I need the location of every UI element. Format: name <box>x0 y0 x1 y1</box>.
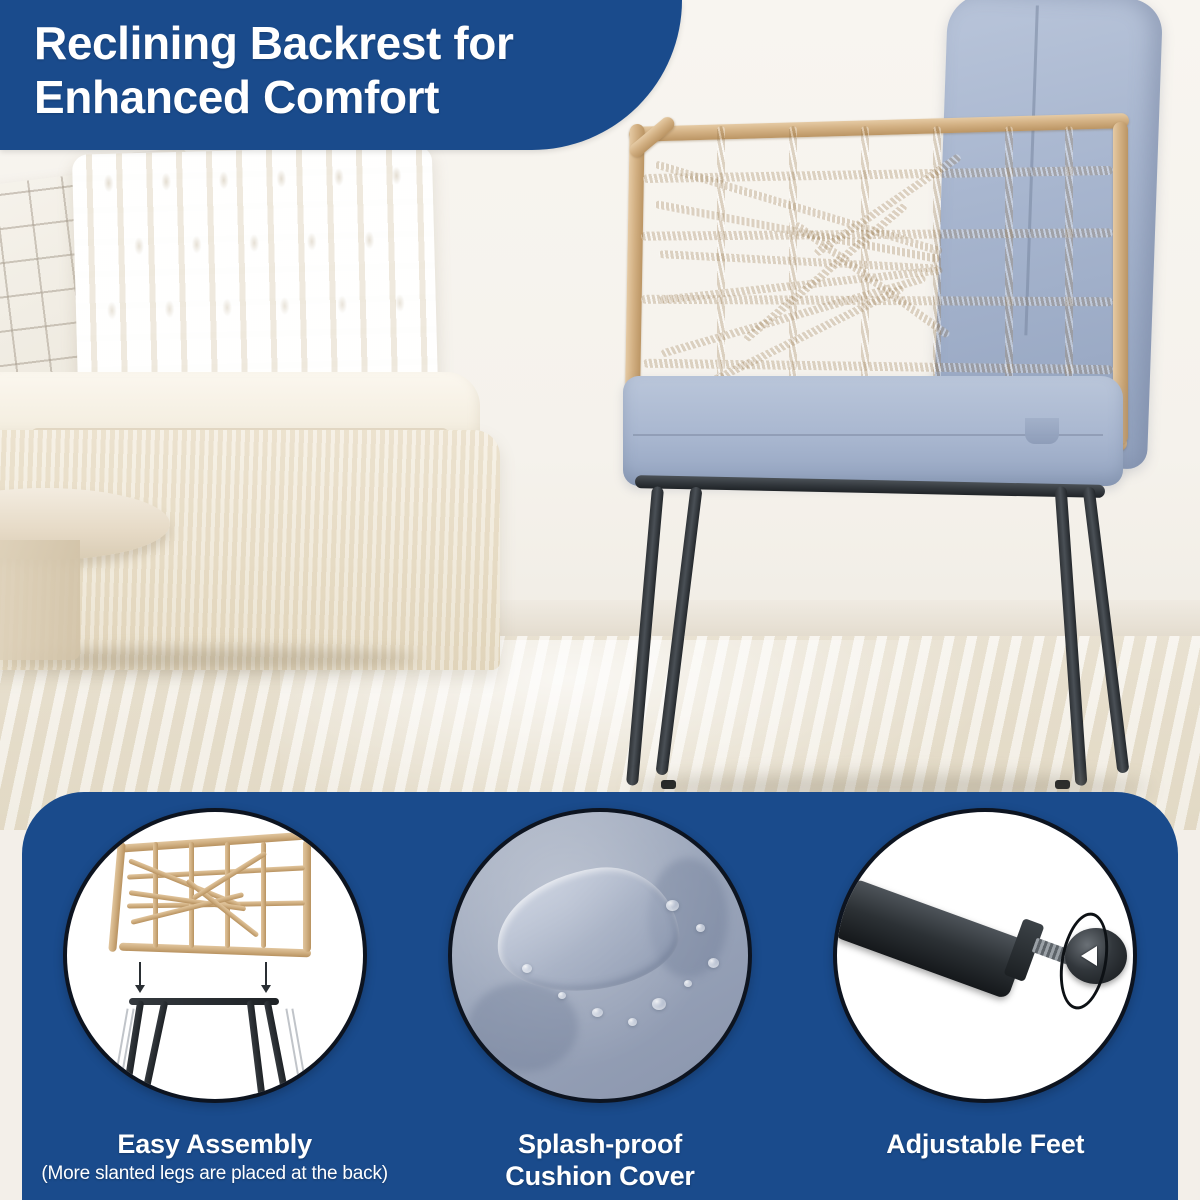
caption-subtitle: (More slanted legs are placed at the bac… <box>41 1163 387 1185</box>
wicker-chair <box>595 88 1195 788</box>
frame-leg-2 <box>140 1000 168 1099</box>
knit-loop-texture <box>72 145 438 399</box>
chair-leg-front-right <box>1055 486 1088 786</box>
droplet-1 <box>666 900 679 911</box>
adjustable-foot-illustration <box>833 808 1137 1103</box>
caption-title-line-1: Splash-proof <box>505 1129 694 1161</box>
feature-panel: Easy Assembly (More slanted legs are pla… <box>22 792 1178 1200</box>
droplet-6 <box>628 1018 637 1026</box>
frame-leg-4 <box>263 1000 289 1098</box>
frame-leg-3 <box>246 1000 266 1103</box>
assembly-arrow-left <box>139 962 141 986</box>
droplet-8 <box>558 992 566 999</box>
assembly-diagram <box>67 812 363 1099</box>
feature-list: Easy Assembly (More slanted legs are pla… <box>22 792 1178 1200</box>
droplet-3 <box>708 958 719 968</box>
leg-tube <box>833 878 1028 1000</box>
assembly-illustration <box>63 808 367 1103</box>
caption-easy-assembly: Easy Assembly (More slanted legs are pla… <box>41 1129 387 1185</box>
rattan-seat-body <box>113 834 313 956</box>
feature-easy-assembly: Easy Assembly (More slanted legs are pla… <box>22 792 407 1200</box>
headline-line-1: Reclining Backrest for <box>34 16 654 70</box>
product-marketing-image: Reclining Backrest for Enhanced Comfort <box>0 0 1200 1200</box>
chair-leg-back-right <box>1082 486 1129 773</box>
droplet-5 <box>652 998 666 1010</box>
headline-line-2: Enhanced Comfort <box>34 70 654 124</box>
droplet-9 <box>522 964 532 973</box>
droplet-2 <box>696 924 705 932</box>
splash-illustration <box>448 808 752 1103</box>
headline-banner: Reclining Backrest for Enhanced Comfort <box>0 0 682 150</box>
caption-adjustable-feet: Adjustable Feet <box>886 1129 1084 1161</box>
chair-leg-back-left <box>655 486 702 775</box>
caption-title: Adjustable Feet <box>886 1129 1084 1161</box>
page-title: Reclining Backrest for Enhanced Comfort <box>34 16 654 125</box>
chair-leg-front-left <box>626 486 664 786</box>
side-table-leg <box>0 540 80 660</box>
feature-splash-proof: Splash-proof Cushion Cover <box>407 792 792 1200</box>
feature-adjustable-feet: Adjustable Feet <box>793 792 1178 1200</box>
droplet-4 <box>684 980 692 987</box>
caption-title-line-2: Cushion Cover <box>505 1161 694 1193</box>
assembly-arrow-right <box>265 962 267 986</box>
cushion-tie-strap <box>1025 418 1059 444</box>
chunky-knit-pillow <box>72 145 438 399</box>
droplet-7 <box>592 1008 603 1017</box>
rotation-arrow-icon <box>1081 946 1097 966</box>
frame-cross-bar <box>129 998 279 1005</box>
caption-title: Easy Assembly <box>41 1129 387 1161</box>
caption-splash-proof: Splash-proof Cushion Cover <box>505 1129 694 1193</box>
